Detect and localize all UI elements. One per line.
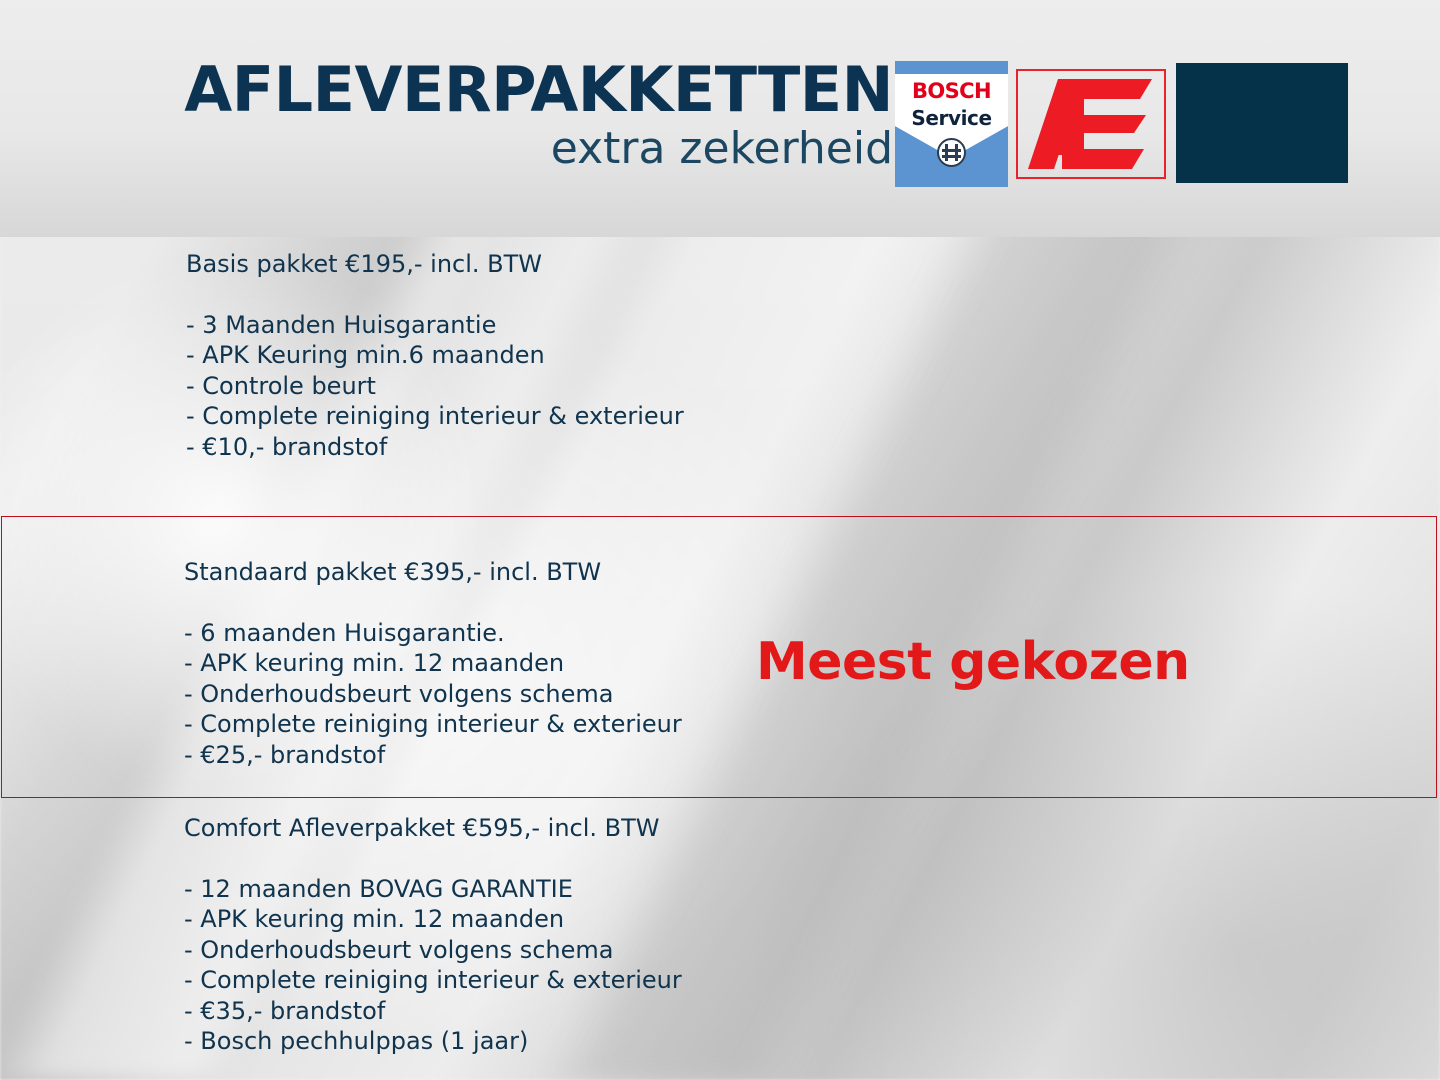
list-item: - Complete reiniging interieur & exterie… bbox=[184, 709, 682, 740]
bosch-armature-icon bbox=[937, 138, 966, 167]
package-block-comfort: Comfort Afleverpakket €595,- incl. BTW -… bbox=[184, 815, 682, 1057]
package-items-standaard: - 6 maanden Huisgarantie. - APK keuring … bbox=[184, 618, 682, 771]
header: AFLEVERPAKKETTEN extra zekerheid BOSCH S… bbox=[0, 0, 1440, 237]
list-item: - 6 maanden Huisgarantie. bbox=[184, 618, 682, 649]
list-item: - 12 maanden BOVAG GARANTIE bbox=[184, 874, 682, 905]
list-item: - Complete reiniging interieur & exterie… bbox=[186, 401, 684, 432]
package-items-comfort: - 12 maanden BOVAG GARANTIE - APK keurin… bbox=[184, 874, 682, 1057]
navy-logo-block bbox=[1176, 63, 1348, 183]
page-title-subtitle: extra zekerheid bbox=[118, 123, 893, 175]
ae-logo bbox=[1016, 69, 1166, 179]
ae-monogram-icon bbox=[1028, 77, 1156, 173]
package-title-standaard: Standaard pakket €395,- incl. BTW bbox=[184, 559, 682, 586]
list-item: - Complete reiniging interieur & exterie… bbox=[184, 965, 682, 996]
slide-root: AFLEVERPAKKETTEN extra zekerheid BOSCH S… bbox=[0, 0, 1440, 1080]
logo-group: BOSCH Service bbox=[895, 61, 1348, 187]
package-items-basis: - 3 Maanden Huisgarantie - APK Keuring m… bbox=[186, 310, 684, 463]
package-block-basis: Basis pakket €195,- incl. BTW - 3 Maande… bbox=[186, 251, 684, 462]
list-item: - APK keuring min. 12 maanden bbox=[184, 904, 682, 935]
list-item: - Onderhoudsbeurt volgens schema bbox=[184, 679, 682, 710]
badge-meest-gekozen: Meest gekozen bbox=[756, 632, 1190, 692]
package-title-comfort: Comfort Afleverpakket €595,- incl. BTW bbox=[184, 815, 682, 842]
list-item: - Controle beurt bbox=[186, 371, 684, 402]
page-title-main: AFLEVERPAKKETTEN bbox=[118, 60, 893, 121]
list-item: - 3 Maanden Huisgarantie bbox=[186, 310, 684, 341]
list-item: - Onderhoudsbeurt volgens schema bbox=[184, 935, 682, 966]
list-item: - €35,- brandstof bbox=[184, 996, 682, 1027]
bosch-wordmark: BOSCH bbox=[895, 79, 1008, 103]
bosch-service-label: Service bbox=[895, 106, 1008, 130]
page-title: AFLEVERPAKKETTEN extra zekerheid bbox=[118, 60, 893, 175]
list-item: - APK Keuring min.6 maanden bbox=[186, 340, 684, 371]
bosch-service-logo: BOSCH Service bbox=[895, 61, 1008, 187]
list-item: - €10,- brandstof bbox=[186, 432, 684, 463]
package-block-standaard: Standaard pakket €395,- incl. BTW - 6 ma… bbox=[184, 559, 682, 770]
list-item: - €25,- brandstof bbox=[184, 740, 682, 771]
list-item: - Bosch pechhulppas (1 jaar) bbox=[184, 1026, 682, 1057]
package-title-basis: Basis pakket €195,- incl. BTW bbox=[186, 251, 684, 278]
list-item: - APK keuring min. 12 maanden bbox=[184, 648, 682, 679]
